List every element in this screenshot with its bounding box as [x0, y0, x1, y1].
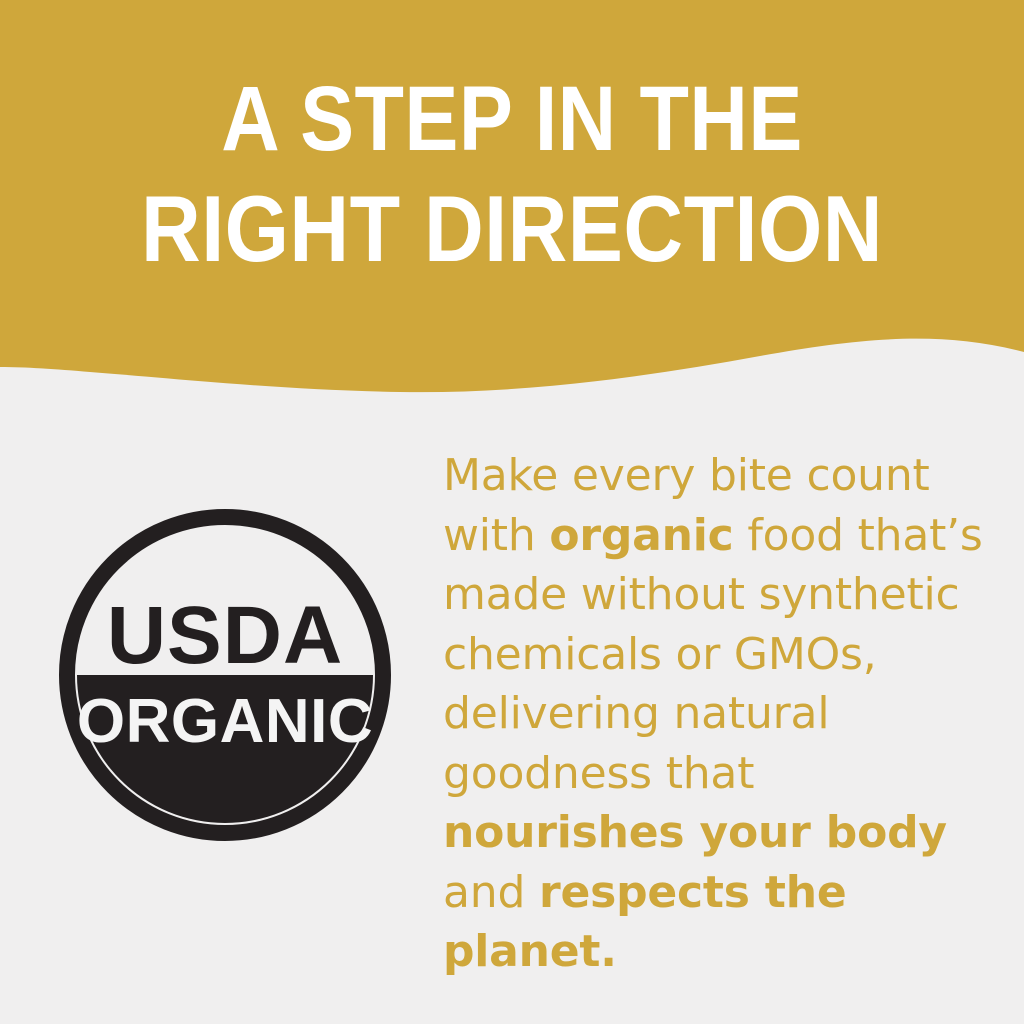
headline-line-2: RIGHT DIRECTION [61, 174, 962, 284]
seal-bottom-text: ORGANIC [77, 687, 373, 756]
page-title: A STEP IN THE RIGHT DIRECTION [61, 64, 962, 284]
body-paragraph: Make every bite count with organic food … [443, 446, 1003, 982]
body-text: and [443, 867, 539, 918]
body-emphasis: nourishes your body [443, 807, 947, 858]
headline-line-1: A STEP IN THE [61, 64, 962, 174]
poster-canvas: A STEP IN THE RIGHT DIRECTION USDA ORGAN… [0, 0, 1024, 1024]
body-emphasis: organic [549, 510, 733, 561]
usda-organic-seal: USDA ORGANIC [58, 506, 392, 844]
seal-top-text: USDA [107, 590, 343, 681]
